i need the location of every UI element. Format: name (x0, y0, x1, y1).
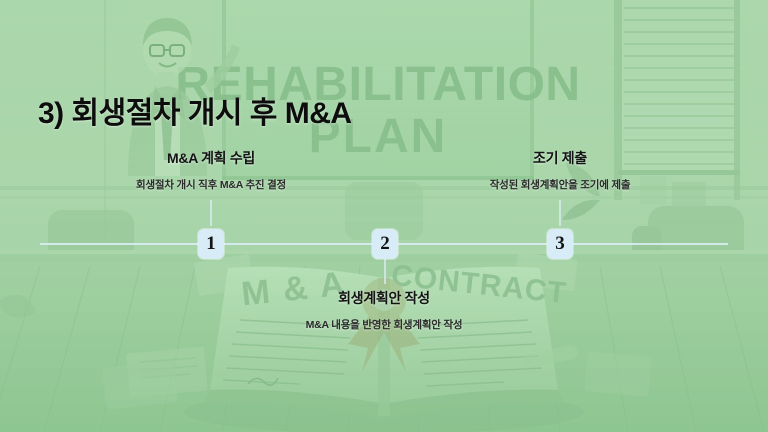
open-contract-book: M & A CONTRACT (184, 259, 584, 432)
timeline-marker-1[interactable]: 1 (198, 229, 224, 259)
timeline-marker-2[interactable]: 2 (372, 229, 398, 259)
connector-stem-1 (210, 200, 212, 226)
milestone-3-title: 조기 제출 (400, 148, 720, 168)
milestone-2-title: 회생계획안 작성 (184, 288, 584, 308)
connector-stem-2 (384, 258, 386, 284)
milestone-2-description: M&A 내용을 반영한 회생계획안 작성 (184, 317, 584, 332)
connector-stem-3 (559, 200, 561, 226)
milestone-2: 회생계획안 작성 M&A 내용을 반영한 회생계획안 작성 (184, 288, 584, 332)
page-title: 3) 회생절차 개시 후 M&A (38, 88, 352, 132)
background-illustration: REHABILITATION PLAN (0, 0, 768, 432)
timeline-marker-3[interactable]: 3 (547, 229, 573, 259)
milestone-1: M&A 계획 수립 회생절차 개시 직후 M&A 추진 결정 (0, 148, 422, 192)
slide-canvas: REHABILITATION PLAN (0, 0, 768, 432)
milestone-3: 조기 제출 작성된 회생계획안을 조기에 제출 (400, 148, 720, 192)
milestone-3-description: 작성된 회생계획안을 조기에 제출 (400, 177, 720, 192)
milestone-1-description: 회생절차 개시 직후 M&A 추진 결정 (0, 177, 422, 192)
milestone-1-title: M&A 계획 수립 (0, 148, 422, 168)
